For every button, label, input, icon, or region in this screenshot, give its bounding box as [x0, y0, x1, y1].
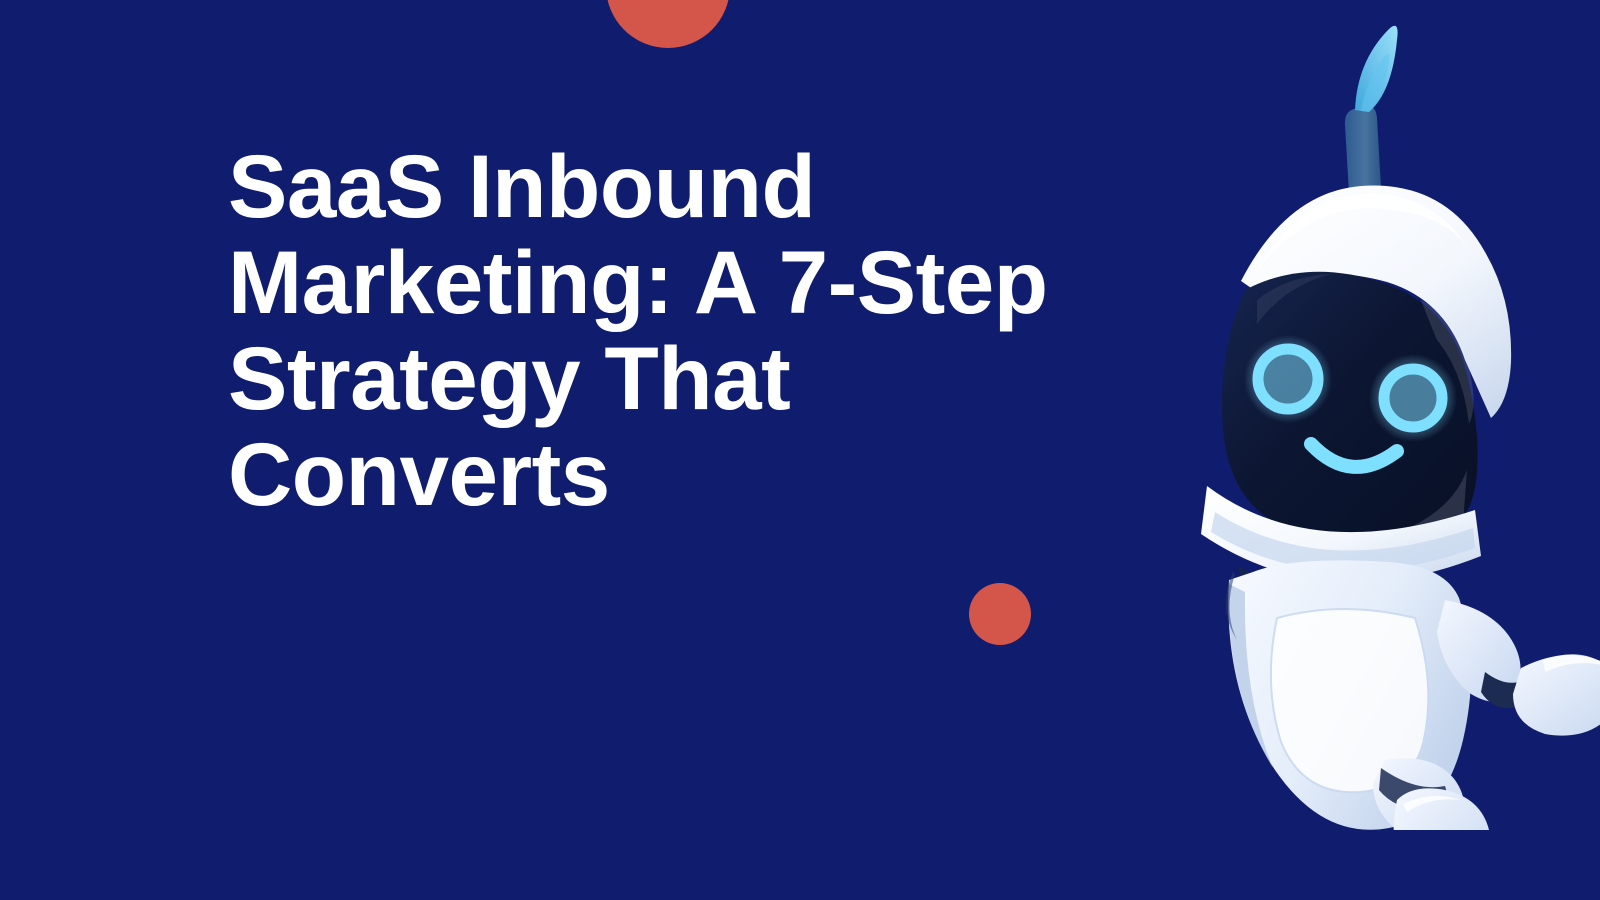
- slide-canvas: SaaS Inbound Marketing: A 7-Step Strateg…: [0, 0, 1600, 900]
- robot-mascot: [1145, 0, 1600, 830]
- robot-foot: [1394, 788, 1491, 830]
- decorative-circle-middle: [969, 583, 1031, 645]
- robot-illustration: [1145, 0, 1600, 830]
- robot-eye-right-icon: [1369, 354, 1457, 442]
- robot-eye-left-icon: [1244, 335, 1332, 423]
- decorative-circle-top: [606, 0, 730, 48]
- page-title: SaaS Inbound Marketing: A 7-Step Strateg…: [228, 138, 1058, 522]
- robot-antenna-icon: [1345, 26, 1398, 210]
